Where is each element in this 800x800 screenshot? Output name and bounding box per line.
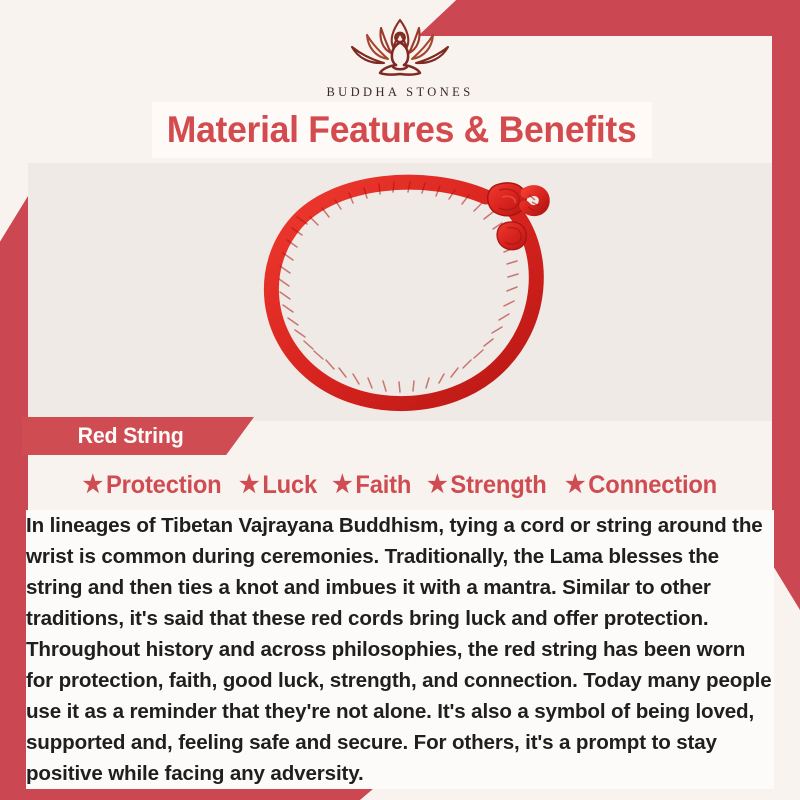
star-icon: ★ xyxy=(332,473,352,497)
lotus-meditation-icon xyxy=(336,14,464,84)
benefit-label: Faith xyxy=(355,471,411,500)
benefit-label: Strength xyxy=(450,471,546,500)
star-icon: ★ xyxy=(565,473,585,497)
red-braided-string-bracelet-icon xyxy=(196,163,604,421)
decor-bar-right xyxy=(772,36,800,610)
benefit-item-strength: ★ Strength xyxy=(427,471,546,500)
page-title: Material Features & Benefits xyxy=(167,109,637,151)
benefit-list: ★ Protection ★ Luck ★ Faith ★ Strength ★… xyxy=(28,466,772,504)
infographic-page: BUDDHA STONES Material Features & Benefi… xyxy=(0,0,800,800)
benefit-item-connection: ★ Connection xyxy=(565,471,717,500)
material-name: Red String xyxy=(78,423,184,449)
description-paragraph: In lineages of Tibetan Vajrayana Buddhis… xyxy=(26,510,774,789)
brand-logo: BUDDHA STONES xyxy=(0,14,800,100)
benefit-label: Luck xyxy=(262,471,317,500)
benefit-label: Connection xyxy=(588,471,717,500)
brand-name: BUDDHA STONES xyxy=(326,85,473,100)
star-icon: ★ xyxy=(83,473,103,497)
product-image-panel xyxy=(28,163,772,421)
benefit-label: Protection xyxy=(106,471,222,500)
product-image-stage xyxy=(28,163,772,421)
material-ribbon: Red String xyxy=(22,417,254,455)
benefit-item-protection: ★ Protection xyxy=(83,471,222,500)
decor-bar-left xyxy=(0,196,28,766)
benefit-item-luck: ★ Luck xyxy=(239,471,317,500)
star-icon: ★ xyxy=(427,473,447,497)
star-icon: ★ xyxy=(239,473,259,497)
benefit-item-faith: ★ Faith xyxy=(332,471,411,500)
page-title-band: Material Features & Benefits xyxy=(152,102,652,158)
